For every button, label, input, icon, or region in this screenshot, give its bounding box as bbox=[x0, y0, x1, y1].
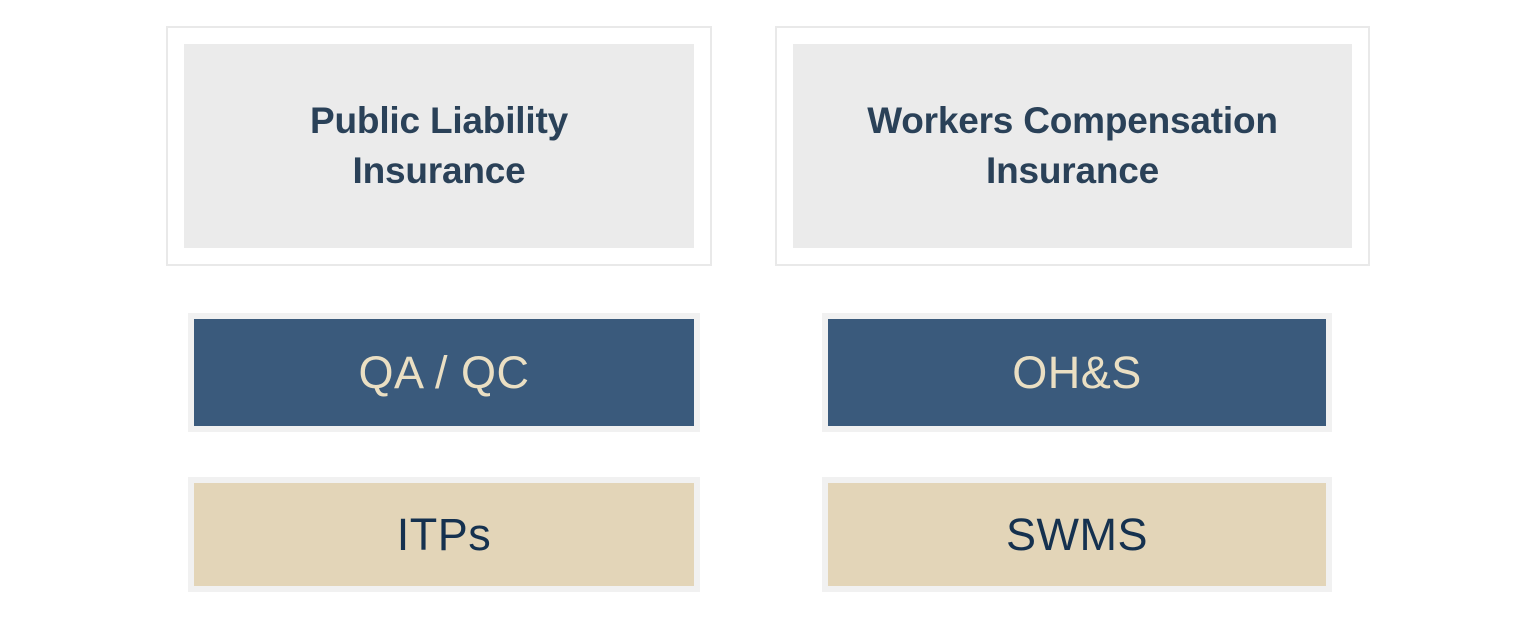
card-inner-panel: Workers Compensation Insurance bbox=[793, 44, 1352, 248]
card-workers-compensation-insurance[interactable]: Workers Compensation Insurance bbox=[775, 26, 1370, 266]
block-qa-qc[interactable]: QA / QC bbox=[188, 313, 700, 432]
block-swms[interactable]: SWMS bbox=[822, 477, 1332, 592]
block-label: OH&S bbox=[1012, 350, 1142, 395]
card-title: Public Liability Insurance bbox=[300, 96, 578, 196]
block-ohs[interactable]: OH&S bbox=[822, 313, 1332, 432]
column-workers-compensation: Workers Compensation Insurance OH&S SWMS bbox=[775, 0, 1370, 633]
block-label: SWMS bbox=[1006, 512, 1148, 557]
diagram-canvas: Public Liability Insurance QA / QC ITPs … bbox=[0, 0, 1536, 633]
column-public-liability: Public Liability Insurance QA / QC ITPs bbox=[166, 0, 712, 633]
block-label: QA / QC bbox=[358, 350, 529, 395]
card-inner-panel: Public Liability Insurance bbox=[184, 44, 694, 248]
card-title: Workers Compensation Insurance bbox=[857, 96, 1288, 196]
block-itps[interactable]: ITPs bbox=[188, 477, 700, 592]
block-label: ITPs bbox=[397, 512, 492, 557]
card-public-liability-insurance[interactable]: Public Liability Insurance bbox=[166, 26, 712, 266]
